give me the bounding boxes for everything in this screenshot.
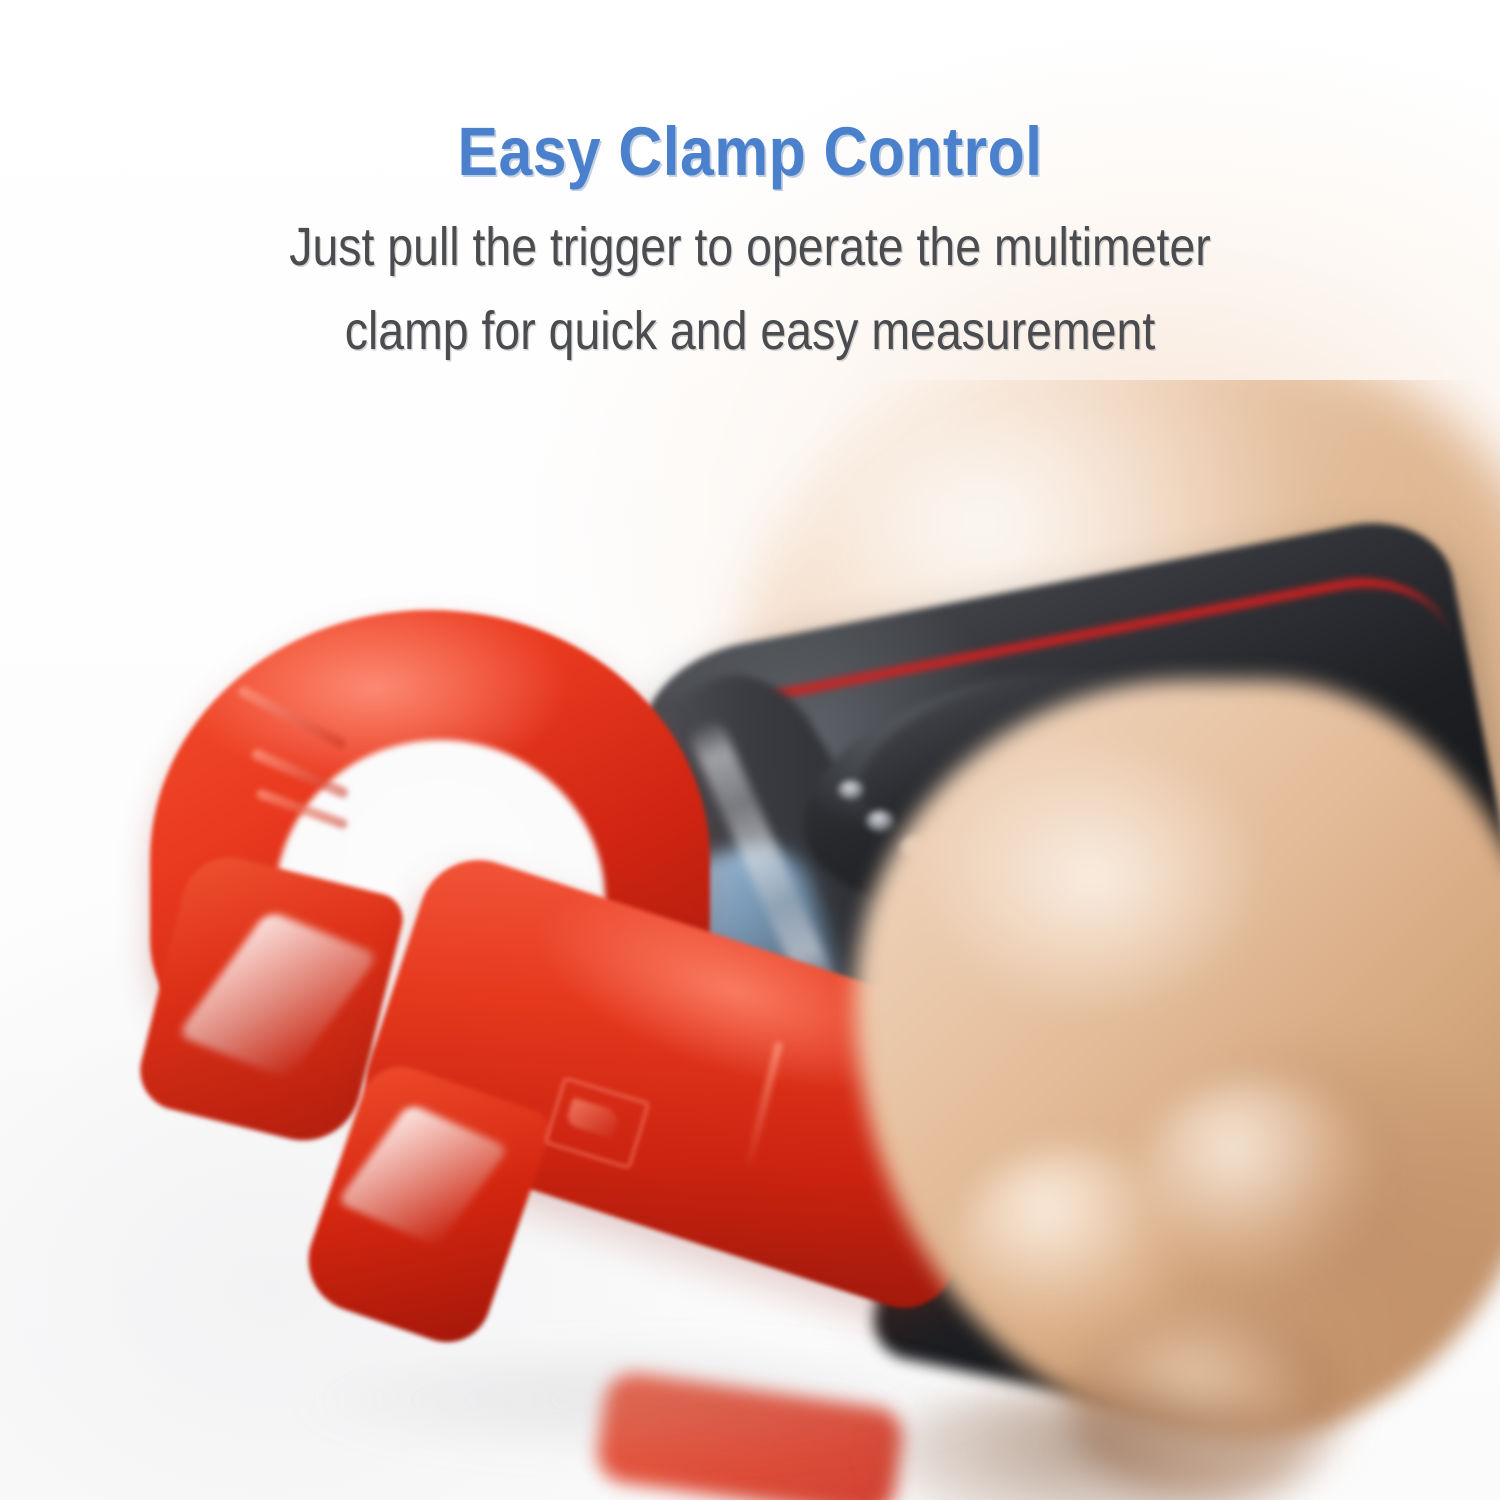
product-photo [0,380,1500,1500]
subtitle-line-2: clamp for quick and easy measurement [105,300,1395,362]
dial-tick-mark [866,810,894,832]
product-feature-image: Easy Clamp Control Just pull the trigger… [0,0,1500,1500]
contact-shadow [300,1340,1000,1460]
page-title: Easy Clamp Control [90,112,1410,191]
subtitle-line-1: Just pull the trigger to operate the mul… [105,216,1395,278]
dial-tick-mark [838,780,864,800]
knuckle [1140,1080,1375,1280]
